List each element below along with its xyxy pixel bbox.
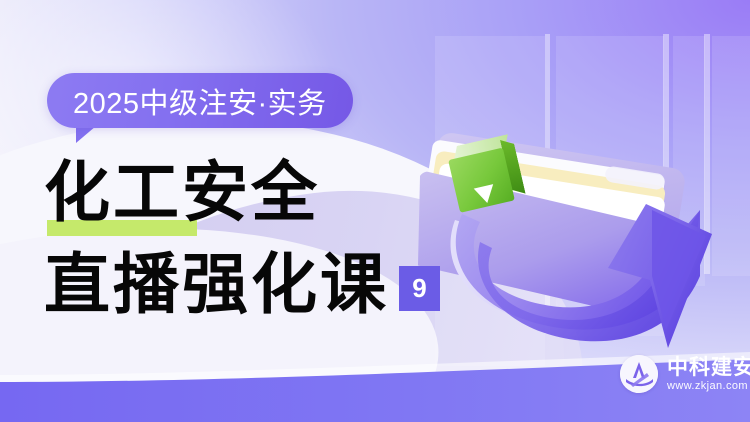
brand-url: www.zkjan.com	[667, 380, 750, 392]
headline-line-2: 直播强化课	[44, 250, 389, 318]
episode-number-badge: 9	[399, 266, 440, 311]
brand-logo-text: 中科建安 www.zkjan.com	[667, 357, 750, 392]
course-category-label: 2025中级注安·实务	[73, 80, 327, 122]
brand-logo[interactable]: 中科建安 www.zkjan.com	[620, 355, 750, 393]
curved-arrow-icon	[400, 180, 750, 380]
headline-line-1: 化工安全	[44, 158, 389, 226]
episode-number: 9	[412, 273, 426, 304]
headline: 化工安全 直播强化课	[44, 158, 389, 318]
course-banner: 2025中级注安·实务 化工安全 直播强化课 9 中科建安 www.zkjan.…	[0, 0, 750, 422]
brand-name: 中科建安	[667, 357, 750, 379]
badge-pointer	[76, 126, 96, 143]
zkjan-circle-logo-icon	[620, 355, 658, 393]
play-triangle-icon	[474, 184, 497, 205]
course-category-badge: 2025中级注安·实务	[47, 73, 353, 128]
